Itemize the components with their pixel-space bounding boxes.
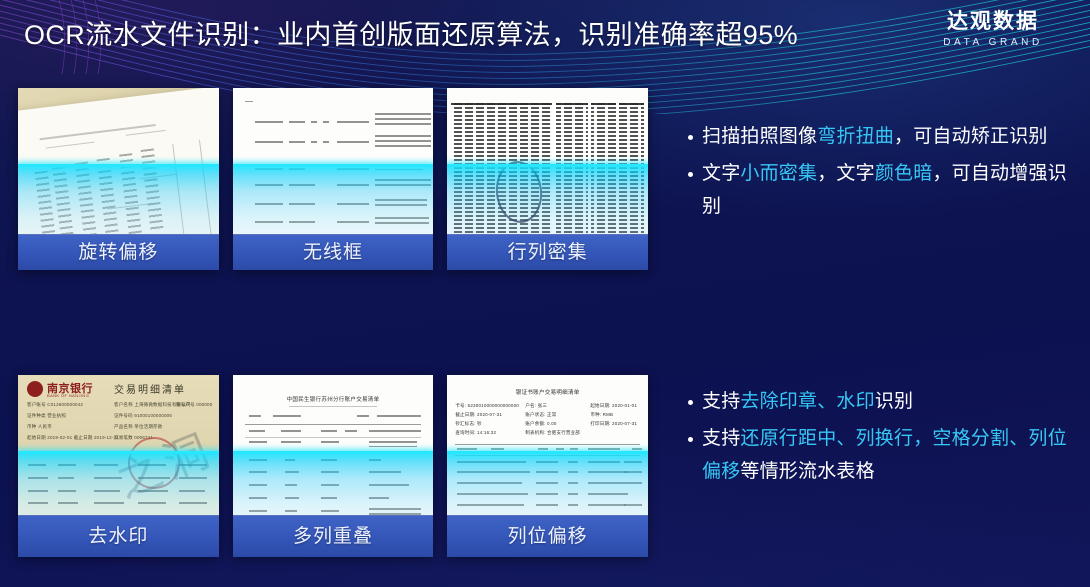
card-caption: 行列密集	[447, 234, 648, 270]
card-dense-rows-cols[interactable]: 行列密集	[447, 88, 648, 270]
bullet-group-top: 扫描拍照图像弯折扭曲，可自动矫正识别 文字小而密集，文字颜色暗，可自动增强识别	[686, 120, 1078, 227]
card-caption: 列位偏移	[447, 515, 648, 557]
bullet-plain-text: ，文字	[817, 163, 875, 184]
logo-chinese-text: 达观数据	[918, 9, 1068, 35]
bullet-item: 文字小而密集，文字颜色暗，可自动增强识别	[686, 157, 1078, 223]
field-line: 证件种类 营业执照	[27, 413, 66, 419]
slide-header: OCR流水文件识别：业内首创版面还原算法，识别准确率超95% 达观数据 DATA…	[0, 0, 1090, 72]
bullet-highlight-text: 小而密集	[740, 163, 817, 184]
card-caption: 去水印	[18, 515, 219, 557]
bullet-plain-text: 扫描拍照图像	[702, 126, 817, 147]
brand-logo: 达观数据 DATA GRAND	[918, 9, 1068, 50]
statement-title-text: 银证书账户交易明细清单	[447, 388, 648, 396]
slide-root: OCR流水文件识别：业内首创版面还原算法，识别准确率超95% 达观数据 DATA…	[0, 0, 1090, 587]
logo-english-text: DATA GRAND	[918, 36, 1068, 50]
card-row-bottom: 南京银行 BANK OF NANJING 交易明细清单 客户账号 C012600…	[18, 375, 648, 557]
card-borderless-table[interactable]: 无线框	[233, 88, 434, 270]
card-column-offset[interactable]: 银证书账户交易明细清单 卡号: 6230010000000000000 户名: …	[447, 375, 648, 557]
field-line: 客户账号 C012600000042	[27, 402, 83, 408]
card-caption: 多列重叠	[233, 515, 434, 557]
field-line: 产品名称 单位活期存款	[114, 424, 162, 430]
bullet-highlight-text: 弯折扭曲	[817, 126, 894, 147]
bank-logo-icon	[27, 381, 43, 397]
card-caption: 无线框	[233, 234, 434, 270]
bullet-item: 支持还原行距中、列换行，空格分割、列位偏移等情形流水表格	[686, 422, 1078, 488]
field-line: 起始日期 2019-02-01 截止日期 2019-12-31	[27, 435, 119, 441]
bank-name-en-text: BANK OF NANJING	[47, 393, 89, 398]
bullet-item: 扫描拍照图像弯折扭曲，可自动矫正识别	[686, 120, 1078, 153]
card-remove-watermark[interactable]: 南京银行 BANK OF NANJING 交易明细清单 客户账号 C012600…	[18, 375, 219, 557]
bullet-plain-text: 等情形流水表格	[740, 461, 874, 482]
card-caption: 旋转偏移	[18, 234, 219, 270]
bullet-highlight-text: 去除印章、水印	[740, 391, 874, 412]
field-line: 账号户号 000000	[176, 402, 212, 408]
bullet-plain-text: 文字	[702, 163, 740, 184]
card-overlapping-columns[interactable]: 中国民生银行苏州分行账户交易清单	[233, 375, 434, 557]
page-title: OCR流水文件识别：业内首创版面还原算法，识别准确率超95%	[24, 16, 798, 54]
statement-title-text: 中国民生银行苏州分行账户交易清单	[233, 395, 434, 403]
bullet-item: 支持去除印章、水印识别	[686, 385, 1078, 418]
field-line: 币种 人民币	[27, 424, 52, 430]
bullet-plain-text: 支持	[702, 391, 740, 412]
bullet-group-bottom: 支持去除印章、水印识别 支持还原行距中、列换行，空格分割、列位偏移等情形流水表格	[686, 385, 1078, 492]
bullet-plain-text: ，可自动矫正识别	[894, 126, 1048, 147]
bullet-plain-text: 识别	[875, 391, 913, 412]
card-rotated-offset[interactable]: 旋转偏移	[18, 88, 219, 270]
bullet-plain-text: 支持	[702, 428, 740, 449]
statement-title-text: 交易明细清单	[114, 381, 186, 396]
bullet-highlight-text: 颜色暗	[875, 163, 933, 184]
field-line: 证件号码 91000100000006	[114, 413, 172, 419]
card-row-top: 旋转偏移	[18, 88, 648, 270]
